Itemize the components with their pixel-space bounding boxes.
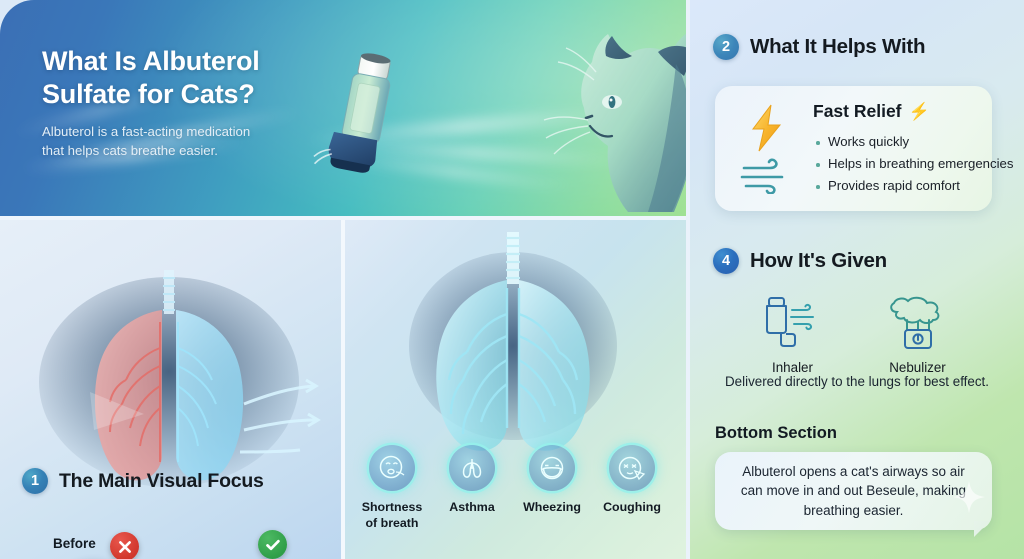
infographic-root: What Is Albuterol Sulfate for Cats? Albu… <box>0 0 1024 559</box>
checkmark-icon <box>264 536 282 554</box>
face-exhaling-icon <box>369 445 415 491</box>
left-panel-title: The Main Visual Focus <box>59 470 264 493</box>
left-panel-heading: 1 The Main Visual Focus <box>22 468 264 494</box>
face-exhaling-glyph <box>377 453 407 483</box>
inhaler-icon <box>756 292 830 354</box>
right-helps-heading: 2 What It Helps With <box>713 34 925 60</box>
card-title-text: Fast Relief <box>813 101 902 122</box>
right-given-heading: 4 How It's Given <box>713 248 887 274</box>
hero-text-block: What Is Albuterol Sulfate for Cats? Albu… <box>42 45 342 160</box>
symptom-item-shortness-of-breath[interactable]: Shortness of breath <box>352 445 432 531</box>
bottom-section-bubble: Albuterol opens a cat's airways so air c… <box>715 452 992 530</box>
symptom-item-wheezing[interactable]: Wheezing <box>512 445 592 531</box>
bullet-item: Works quickly <box>815 131 1013 153</box>
lightning-bolt-icon <box>747 104 785 152</box>
symptom-label-line2: of breath <box>365 516 418 530</box>
close-icon <box>117 539 133 555</box>
card-title-row: Fast Relief ⚡ <box>813 101 930 122</box>
fast-relief-bullets: Works quickly Helps in breathing emergen… <box>815 131 1013 197</box>
divider-vertical-right <box>686 0 690 559</box>
lungs-illustration <box>397 220 629 458</box>
symptom-label-line1: Shortness <box>362 500 423 514</box>
cat-illustration <box>508 16 686 216</box>
symptom-label-line1: Coughing <box>603 500 661 514</box>
page-title-line1: What Is Albuterol <box>42 46 260 76</box>
check-icon <box>258 530 287 559</box>
symptom-label: Coughing <box>603 500 661 516</box>
panel-main-visual-focus: 1 The Main Visual Focus Before <box>0 220 341 559</box>
symptom-list: Shortness of breath Asthma <box>352 445 682 531</box>
nebulizer-glyph <box>883 296 953 354</box>
lungs-icon <box>449 445 495 491</box>
symptom-label: Shortness of breath <box>362 500 423 531</box>
sparkle-icon <box>952 480 986 514</box>
divider-vertical-left <box>341 220 345 559</box>
step-badge-1: 1 <box>22 468 48 494</box>
symptom-item-coughing[interactable]: Coughing <box>592 445 672 531</box>
face-with-mask-icon <box>529 445 575 491</box>
bullet-item: Provides rapid comfort <box>815 175 1013 197</box>
page-subtitle: Albuterol is a fast-acting medication th… <box>42 123 342 160</box>
wind-icon <box>740 156 798 194</box>
nebulizer-icon <box>883 292 953 354</box>
face-coughing-icon <box>609 445 655 491</box>
before-label: Before <box>53 536 96 551</box>
delivery-note: Delivered directly to the lungs for best… <box>724 372 990 391</box>
bottom-section-heading: Bottom Section <box>715 424 837 443</box>
page-title-line2: Sulfate for Cats? <box>42 79 255 109</box>
symptom-label-line1: Asthma <box>449 500 494 514</box>
right-helps-title: What It Helps With <box>750 35 925 59</box>
cross-icon <box>110 532 139 559</box>
lightning-emoji-icon: ⚡ <box>909 102 930 122</box>
step-badge-4: 4 <box>713 248 739 274</box>
inhaler-glyph <box>756 296 830 354</box>
symptom-label: Asthma <box>449 500 494 516</box>
device-item-inhaler[interactable]: Inhaler <box>730 292 855 375</box>
bullet-item: Helps in breathing emergencies <box>815 153 1013 175</box>
symptom-label: Wheezing <box>523 500 581 516</box>
face-coughing-glyph <box>617 454 647 482</box>
fast-relief-card: Fast Relief ⚡ Works quickly Helps in bre… <box>715 86 992 211</box>
page-subtitle-line2: that helps cats breathe easier. <box>42 143 218 158</box>
delivery-device-list: Inhaler Nebulizer <box>730 292 980 375</box>
face-mask-glyph <box>538 454 566 482</box>
symptom-label-line1: Wheezing <box>523 500 581 514</box>
page-title: What Is Albuterol Sulfate for Cats? <box>42 45 342 111</box>
panel-right-column: 2 What It Helps With <box>690 0 1024 559</box>
bottom-section-text: Albuterol opens a cat's airways so air c… <box>715 462 992 521</box>
symptom-item-asthma[interactable]: Asthma <box>432 445 512 531</box>
step-badge-2-right: 2 <box>713 34 739 60</box>
bubble-tail <box>974 521 990 537</box>
device-item-nebulizer[interactable]: Nebulizer <box>855 292 980 375</box>
lungs-glyph <box>458 454 486 482</box>
hero-header: What Is Albuterol Sulfate for Cats? Albu… <box>0 0 686 216</box>
right-given-title: How It's Given <box>750 249 887 273</box>
page-subtitle-line1: Albuterol is a fast-acting medication <box>42 124 250 139</box>
